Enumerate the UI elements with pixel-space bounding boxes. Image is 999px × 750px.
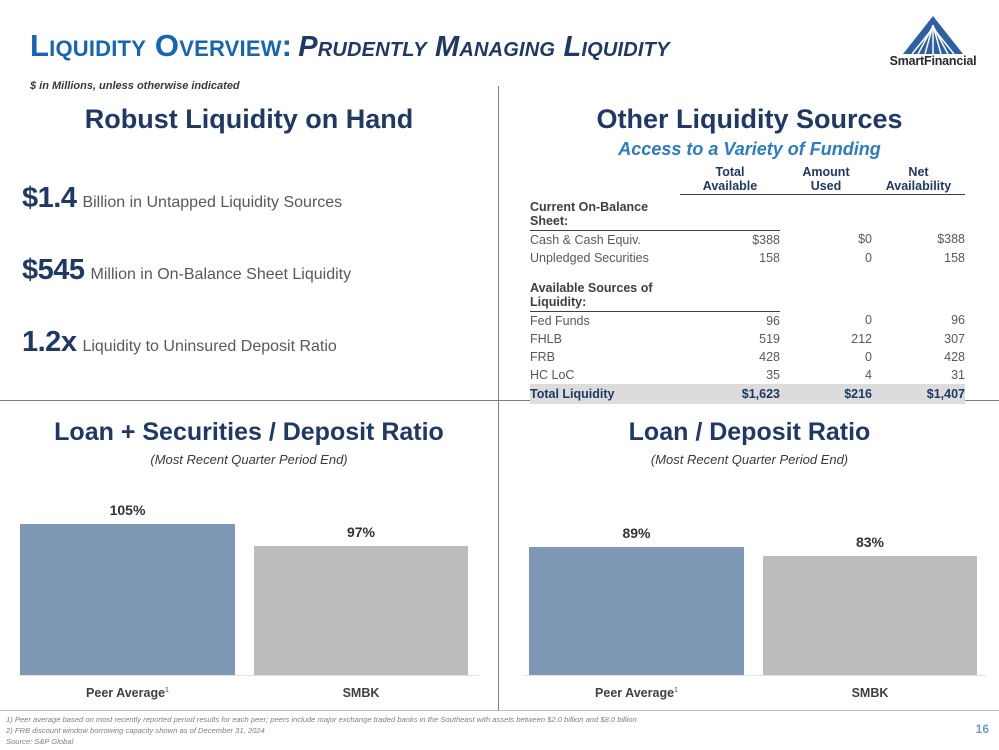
footnote-source: Source: S&P Global: [6, 736, 637, 747]
bar-peer-average: [20, 524, 235, 675]
row-total-available: 519: [680, 330, 780, 348]
table-row: Cash & Cash Equiv. $388 $0 $388: [530, 230, 965, 249]
row-total-available: 158: [680, 249, 780, 267]
table-section-header-current-on-balance-sheet: Current On-Balance Sheet:: [530, 195, 965, 231]
stat-on-balance-sheet-liquidity: $545Million in On-Balance Sheet Liquidit…: [22, 254, 351, 287]
stat-value: $545: [22, 254, 85, 286]
col-header-label: [530, 165, 680, 195]
table-header-row: Total Available Amount Used Net Availabi…: [530, 165, 965, 195]
left-panel-title: Robust Liquidity on Hand: [0, 104, 498, 135]
liquidity-sources-table: Total Available Amount Used Net Availabi…: [530, 165, 965, 404]
total-amount-used: $216: [780, 384, 872, 404]
col-header-line1: Net: [908, 165, 928, 179]
col-header-total-available: Total Available: [680, 165, 780, 195]
logo-triangle-svg: [903, 16, 963, 54]
bar-value-peer-average: 105%: [20, 502, 235, 518]
section-pad: [780, 276, 872, 312]
table-row: HC LoC 35 4 31: [530, 366, 965, 384]
col-header-amount-used: Amount Used: [780, 165, 872, 195]
smartfinancial-logo: SmartFinancial: [877, 16, 989, 70]
chart-plot-area: 105% 97% Peer Average1 SMBK: [0, 414, 498, 710]
table-row: Unpledged Securities 158 0 158: [530, 249, 965, 267]
row-net-availability: 307: [872, 330, 965, 348]
row-amount-used: 4: [780, 366, 872, 384]
category-label-peer-average: Peer Average1: [20, 686, 235, 700]
total-total-available: $1,623: [680, 384, 780, 404]
table-header: Total Available Amount Used Net Availabi…: [530, 165, 965, 195]
section-pad: [872, 276, 965, 312]
row-total-available: 96: [680, 311, 780, 330]
right-panel-title: Other Liquidity Sources: [500, 104, 999, 135]
row-label: Unpledged Securities: [530, 249, 680, 267]
table-section-header-available-sources: Available Sources of Liquidity:: [530, 276, 965, 312]
category-footnote-mark: 1: [674, 687, 678, 694]
category-text: Peer Average: [595, 686, 674, 700]
units-note: $ in Millions, unless otherwise indicate…: [30, 80, 240, 92]
section-pad: [872, 195, 965, 231]
category-text: Peer Average: [86, 686, 165, 700]
table-total-row: Total Liquidity $1,623 $216 $1,407: [530, 384, 965, 404]
section-rule: [680, 276, 780, 312]
bar-smbk: [763, 556, 977, 675]
stat-value: 1.2x: [22, 326, 76, 358]
bar-peer-average: [529, 547, 744, 675]
col-header-net-availability: Net Availability: [872, 165, 965, 195]
chart-baseline: [524, 675, 986, 676]
row-label: Fed Funds: [530, 311, 680, 330]
logo-triangle-icon: [903, 16, 963, 54]
category-label-smbk: SMBK: [254, 686, 468, 700]
table-body: Current On-Balance Sheet: Cash & Cash Eq…: [530, 195, 965, 404]
bar-smbk: [254, 546, 468, 675]
right-panel-subtitle: Access to a Variety of Funding: [500, 139, 999, 160]
total-net-availability: $1,407: [872, 384, 965, 404]
section-rule: [680, 195, 780, 231]
footnotes: 1) Peer average based on most recently r…: [6, 714, 637, 747]
table-row: Fed Funds 96 0 96: [530, 311, 965, 330]
row-total-available: 35: [680, 366, 780, 384]
footnote-1: 1) Peer average based on most recently r…: [6, 714, 637, 725]
table-spacer-row: [530, 267, 965, 276]
row-label: FHLB: [530, 330, 680, 348]
page-title: Liquidity Overview:Prudently Managing Li…: [30, 28, 850, 64]
row-net-availability: $388: [872, 230, 965, 249]
table-row: FRB 428 0 428: [530, 348, 965, 366]
chart-baseline: [18, 675, 480, 676]
col-header-line1: Amount: [802, 165, 849, 179]
page-title-sub: Prudently Managing Liquidity: [298, 31, 669, 63]
category-label-smbk: SMBK: [763, 686, 977, 700]
col-header-line2: Used: [811, 179, 842, 193]
stat-untapped-liquidity: $1.4Billion in Untapped Liquidity Source…: [22, 182, 342, 215]
total-label: Total Liquidity: [530, 384, 680, 404]
category-footnote-mark: 1: [165, 687, 169, 694]
bar-value-peer-average: 89%: [529, 525, 744, 541]
page-number: 16: [976, 722, 989, 736]
footnote-2: 2) FRB discount window borrowing capacit…: [6, 725, 637, 736]
stat-label: Million in On-Balance Sheet Liquidity: [91, 266, 352, 283]
logo-wordmark: SmartFinancial: [877, 54, 989, 68]
row-net-availability: 96: [872, 311, 965, 330]
row-label: Cash & Cash Equiv.: [530, 230, 680, 249]
row-amount-used: $0: [780, 230, 872, 249]
row-net-availability: 158: [872, 249, 965, 267]
row-amount-used: 0: [780, 348, 872, 366]
row-total-available: 428: [680, 348, 780, 366]
stat-uninsured-deposit-ratio: 1.2xLiquidity to Uninsured Deposit Ratio: [22, 326, 337, 359]
chart-plot-area: 89% 83% Peer Average1 SMBK: [500, 414, 999, 710]
category-label-peer-average: Peer Average1: [529, 686, 744, 700]
section-pad: [780, 195, 872, 231]
section-title: Available Sources of Liquidity:: [530, 276, 680, 312]
row-label: FRB: [530, 348, 680, 366]
col-header-line1: Total: [716, 165, 745, 179]
row-amount-used: 0: [780, 249, 872, 267]
table-row: FHLB 519 212 307: [530, 330, 965, 348]
stat-value: $1.4: [22, 182, 76, 214]
row-total-available: $388: [680, 230, 780, 249]
row-net-availability: 31: [872, 366, 965, 384]
row-amount-used: 212: [780, 330, 872, 348]
row-label: HC LoC: [530, 366, 680, 384]
page-title-main: Liquidity Overview:: [30, 28, 292, 63]
chart-loan-deposit-ratio: Loan / Deposit Ratio (Most Recent Quarte…: [500, 414, 999, 710]
col-header-line2: Available: [703, 179, 757, 193]
chart-loan-securities-deposit-ratio: Loan + Securities / Deposit Ratio (Most …: [0, 414, 498, 710]
vertical-divider: [498, 86, 499, 710]
footer-divider: [0, 710, 999, 711]
col-header-line2: Availability: [886, 179, 952, 193]
row-amount-used: 0: [780, 311, 872, 330]
bar-value-smbk: 97%: [254, 524, 468, 540]
stat-label: Billion in Untapped Liquidity Sources: [82, 194, 342, 211]
section-title: Current On-Balance Sheet:: [530, 195, 680, 231]
row-net-availability: 428: [872, 348, 965, 366]
bar-value-smbk: 83%: [763, 534, 977, 550]
stat-label: Liquidity to Uninsured Deposit Ratio: [82, 338, 336, 355]
